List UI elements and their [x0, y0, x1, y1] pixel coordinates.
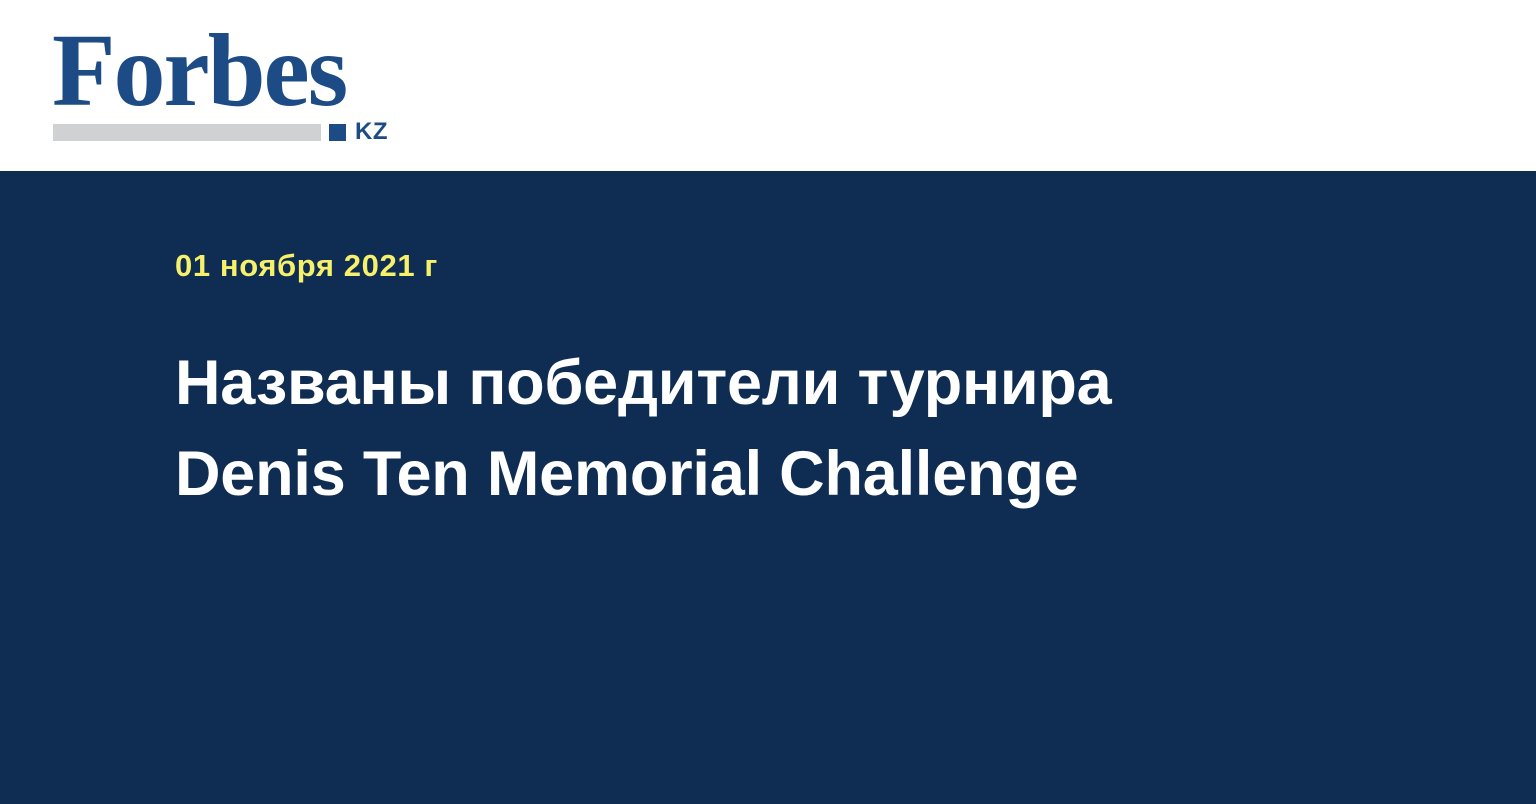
logo-square-icon [329, 124, 346, 141]
article-hero: 01 ноября 2021 г Названы победители турн… [0, 171, 1536, 804]
logo-underline-bar [53, 124, 321, 141]
article-page: Forbes KZ 01 ноября 2021 г Названы побед… [0, 0, 1536, 804]
logo-kz-label: KZ [355, 120, 388, 144]
forbes-kz-logo[interactable]: Forbes KZ [52, 22, 412, 144]
forbes-wordmark: Forbes [52, 16, 346, 126]
article-title: Названы победители турнира Denis Ten Mem… [175, 338, 1295, 520]
article-date: 01 ноября 2021 г [175, 249, 438, 283]
site-header: Forbes KZ [0, 0, 1536, 171]
